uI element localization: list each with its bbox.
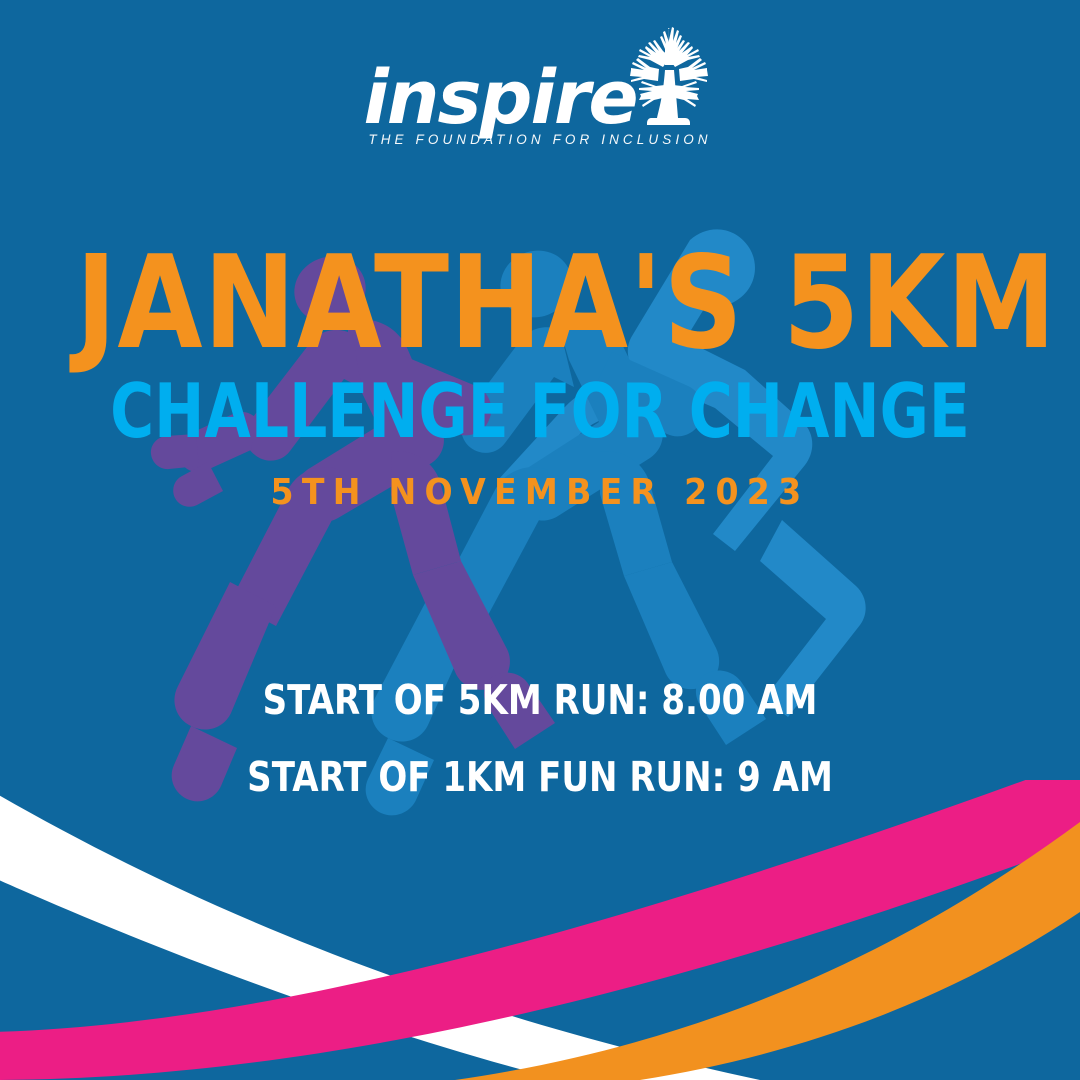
logo-wordmark: inspire (363, 64, 636, 132)
event-poster: inspire (0, 0, 1080, 1080)
event-title: JANATHA'S 5KM (76, 240, 1005, 368)
event-date: 5TH NOVEMBER 2023 (43, 475, 1037, 511)
schedule-line-5km: START OF 5KM RUN: 8.00 AM (92, 680, 988, 721)
event-subtitle: CHALLENGE FOR CHANGE (108, 374, 972, 449)
swoosh-decoration (0, 780, 1080, 1080)
headline-group: JANATHA'S 5KM CHALLENGE FOR CHANGE 5TH N… (0, 240, 1080, 511)
brand-logo: inspire (0, 22, 1080, 147)
logo-tagline: THE FOUNDATION FOR INCLUSION (0, 132, 1080, 147)
